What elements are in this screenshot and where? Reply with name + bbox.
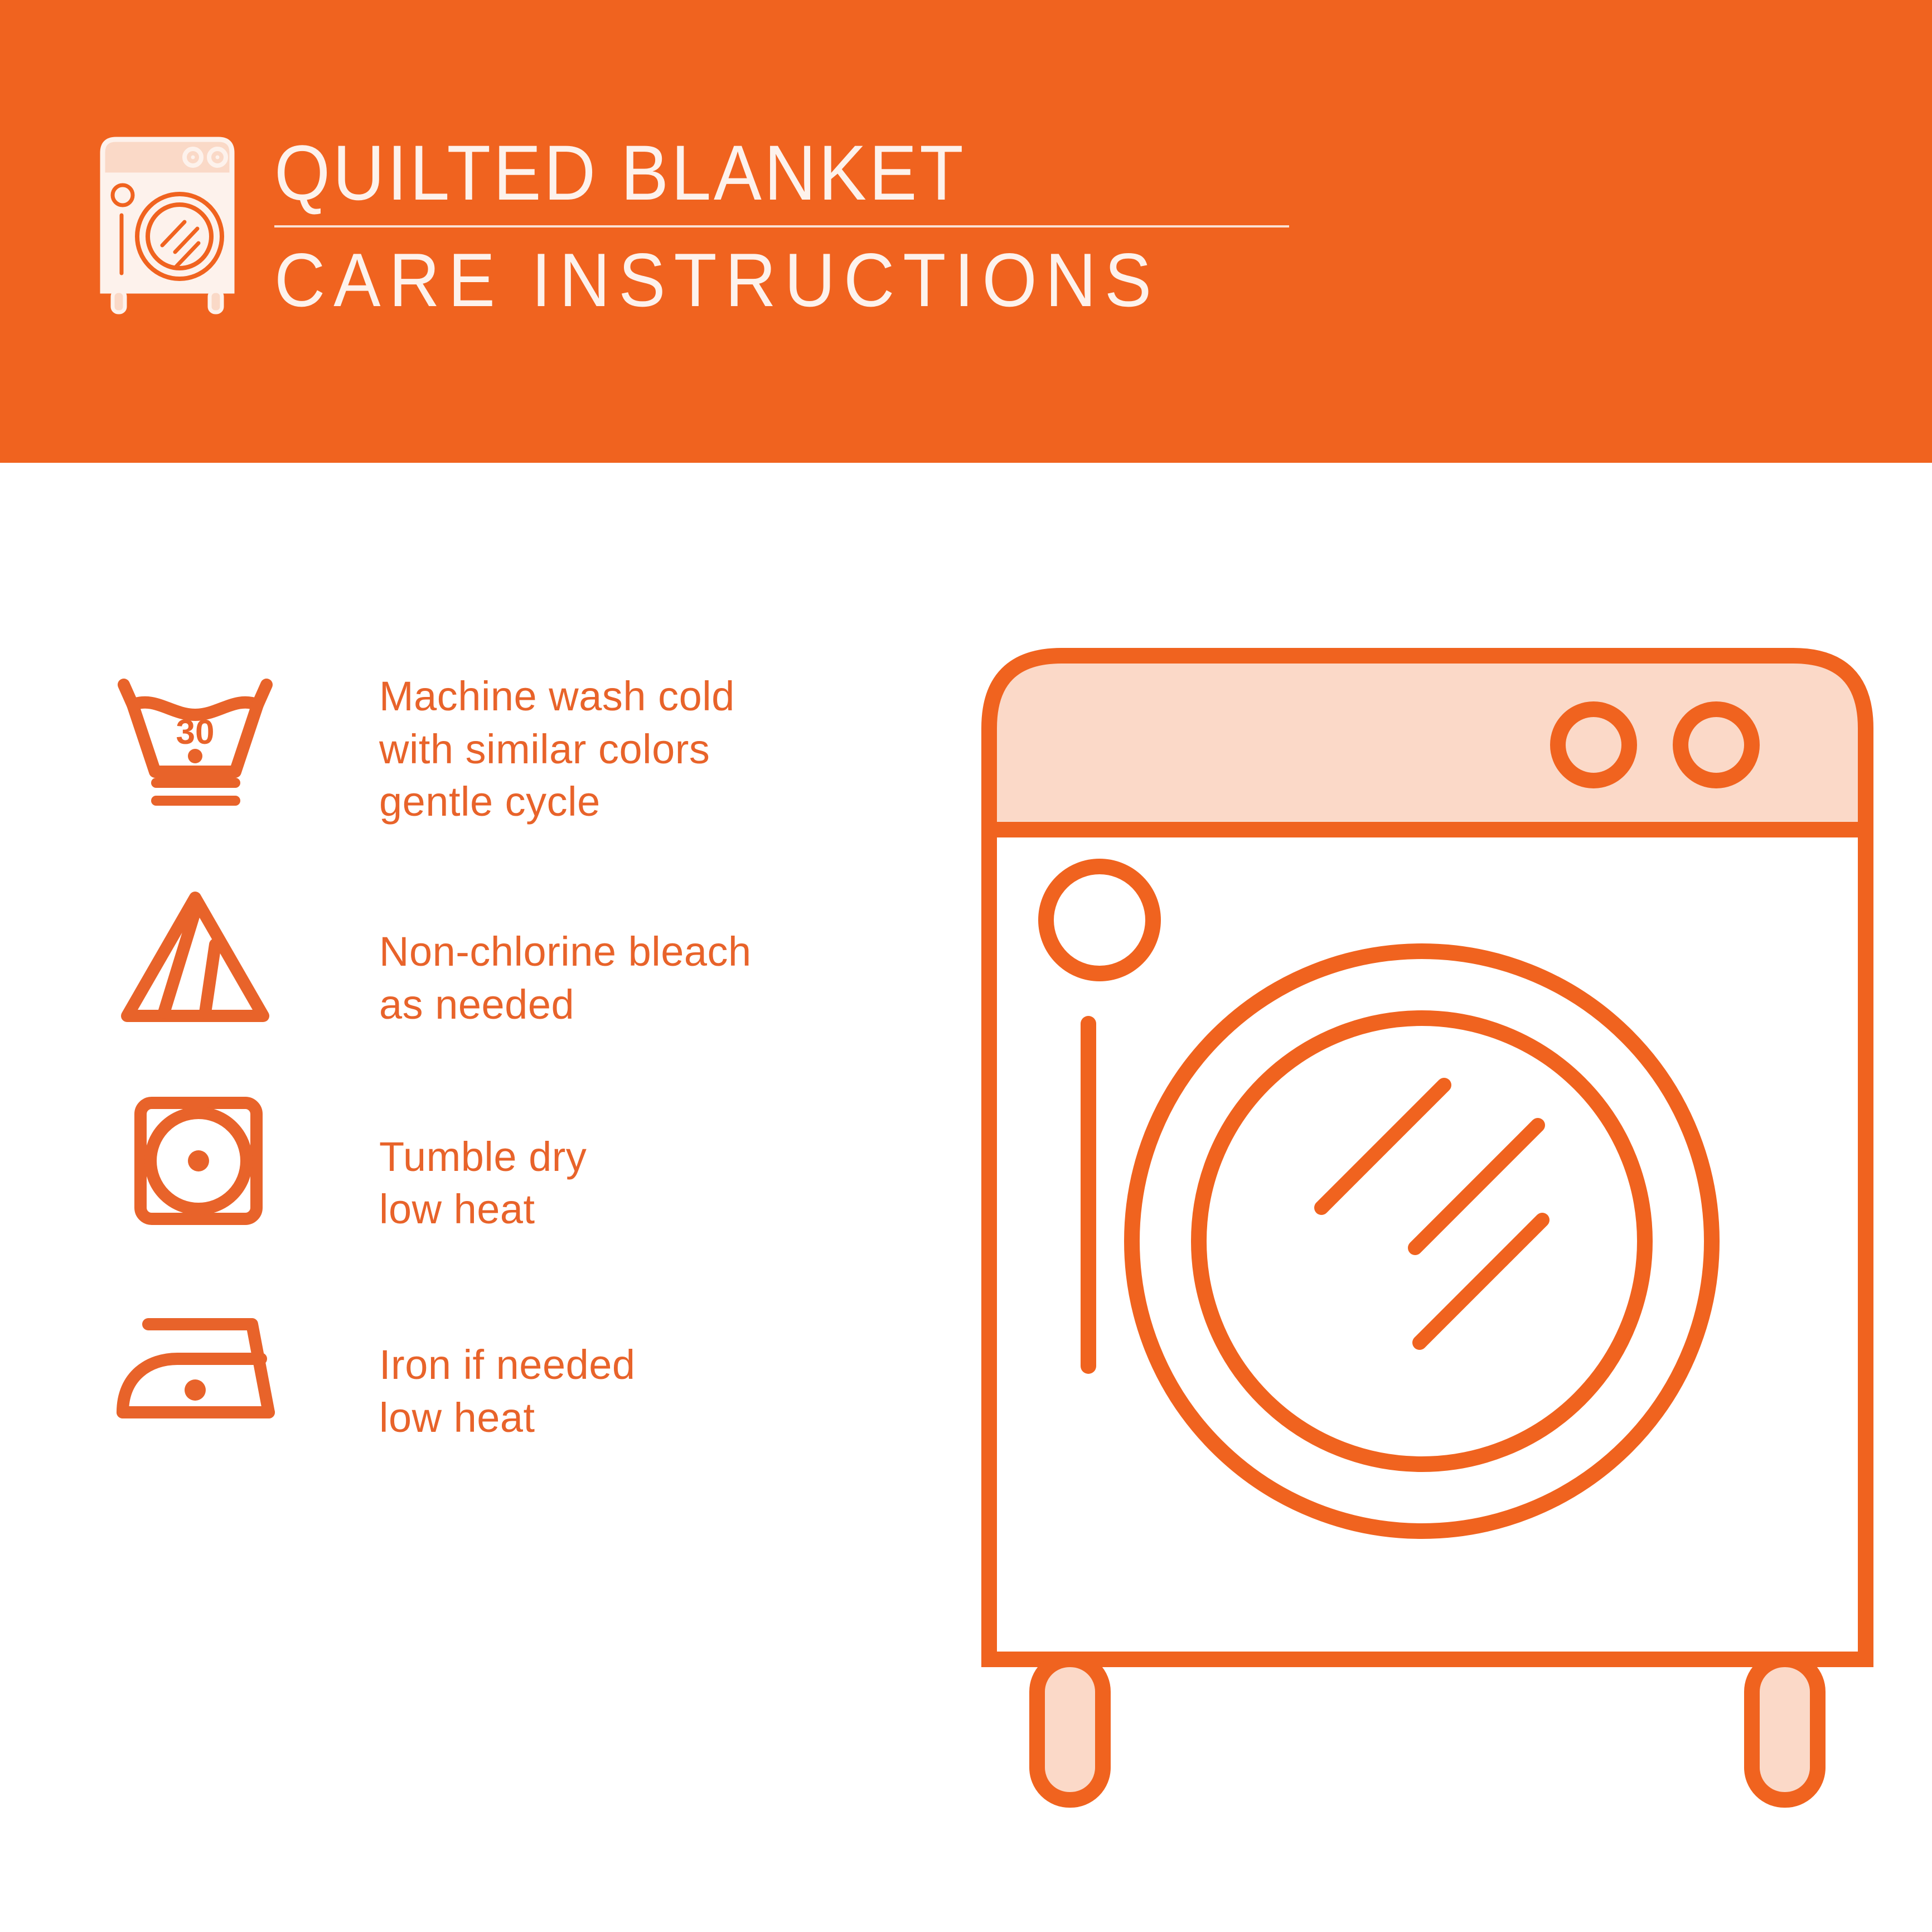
care-line: low heat — [379, 1183, 920, 1236]
care-line: Machine wash cold — [379, 670, 920, 723]
care-row-machine-wash: 30 Machine wash cold with similar colors… — [84, 658, 920, 829]
care-instructions-poster: QUILTED BLANKET CARE INSTRUCTIONS 30 — [0, 0, 1932, 1932]
leg-left — [1037, 1659, 1103, 1800]
large-washing-machine-illustration — [965, 630, 1890, 1840]
header-title-group: QUILTED BLANKET CARE INSTRUCTIONS — [274, 127, 1289, 318]
wash-temperature-value: 30 — [176, 713, 215, 752]
care-line: Non-chlorine bleach — [379, 926, 920, 979]
care-line: gentle cycle — [379, 776, 920, 829]
care-line: low heat — [379, 1392, 920, 1445]
care-row-iron: Iron if needed low heat — [84, 1287, 920, 1444]
leg-right — [1752, 1659, 1818, 1800]
care-label-bleach: Non-chlorine bleach as needed — [307, 926, 920, 1031]
care-label-iron: Iron if needed low heat — [307, 1339, 920, 1444]
care-line: Tumble dry — [379, 1131, 920, 1184]
washing-machine-icon — [84, 127, 251, 317]
care-label-tumble-dry: Tumble dry low heat — [307, 1131, 920, 1236]
care-instruction-list: 30 Machine wash cold with similar colors… — [84, 658, 920, 1444]
care-line: Iron if needed — [379, 1339, 920, 1392]
care-line: as needed — [379, 979, 920, 1032]
header-content: QUILTED BLANKET CARE INSTRUCTIONS — [84, 127, 1289, 318]
care-line: with similar colors — [379, 723, 920, 776]
bleach-triangle-non-chlorine-icon — [84, 883, 307, 1028]
page-subtitle: CARE INSTRUCTIONS — [274, 242, 1218, 318]
title-divider — [274, 225, 1289, 227]
page-title: QUILTED BLANKET — [274, 134, 1208, 212]
knob-left — [1558, 709, 1629, 781]
knob-right — [1681, 709, 1752, 781]
wash-tub-30-gentle-icon: 30 — [84, 668, 307, 807]
care-label-machine-wash: Machine wash cold with similar colors ge… — [307, 670, 920, 829]
tumble-dry-low-heat-icon — [84, 1090, 307, 1234]
header-band: QUILTED BLANKET CARE INSTRUCTIONS — [0, 0, 1932, 463]
care-row-bleach: Non-chlorine bleach as needed — [84, 880, 920, 1031]
care-row-tumble-dry: Tumble dry low heat — [84, 1083, 920, 1236]
iron-low-heat-icon — [84, 1305, 307, 1428]
